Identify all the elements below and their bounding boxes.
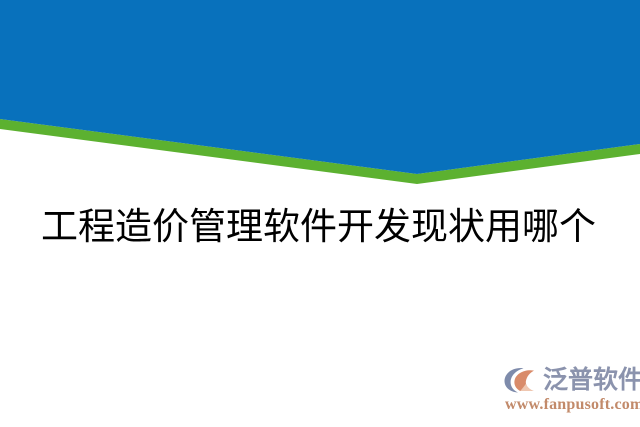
watermark-logo: 泛普软件 www.fanpusoft.com xyxy=(503,363,640,419)
header-blue-shape xyxy=(0,0,640,174)
header-banner xyxy=(0,0,640,185)
brand-url: www.fanpusoft.com xyxy=(505,396,640,414)
slide-canvas: 工程造价管理软件开发现状用哪个 泛普软件 www.fanpusoft.com xyxy=(0,0,640,427)
fanpu-swoosh-logo-icon xyxy=(503,364,541,396)
logo-row: 泛普软件 xyxy=(503,363,640,397)
page-title: 工程造价管理软件开发现状用哪个 xyxy=(41,205,611,251)
brand-wordmark: 泛普软件 xyxy=(543,367,640,394)
